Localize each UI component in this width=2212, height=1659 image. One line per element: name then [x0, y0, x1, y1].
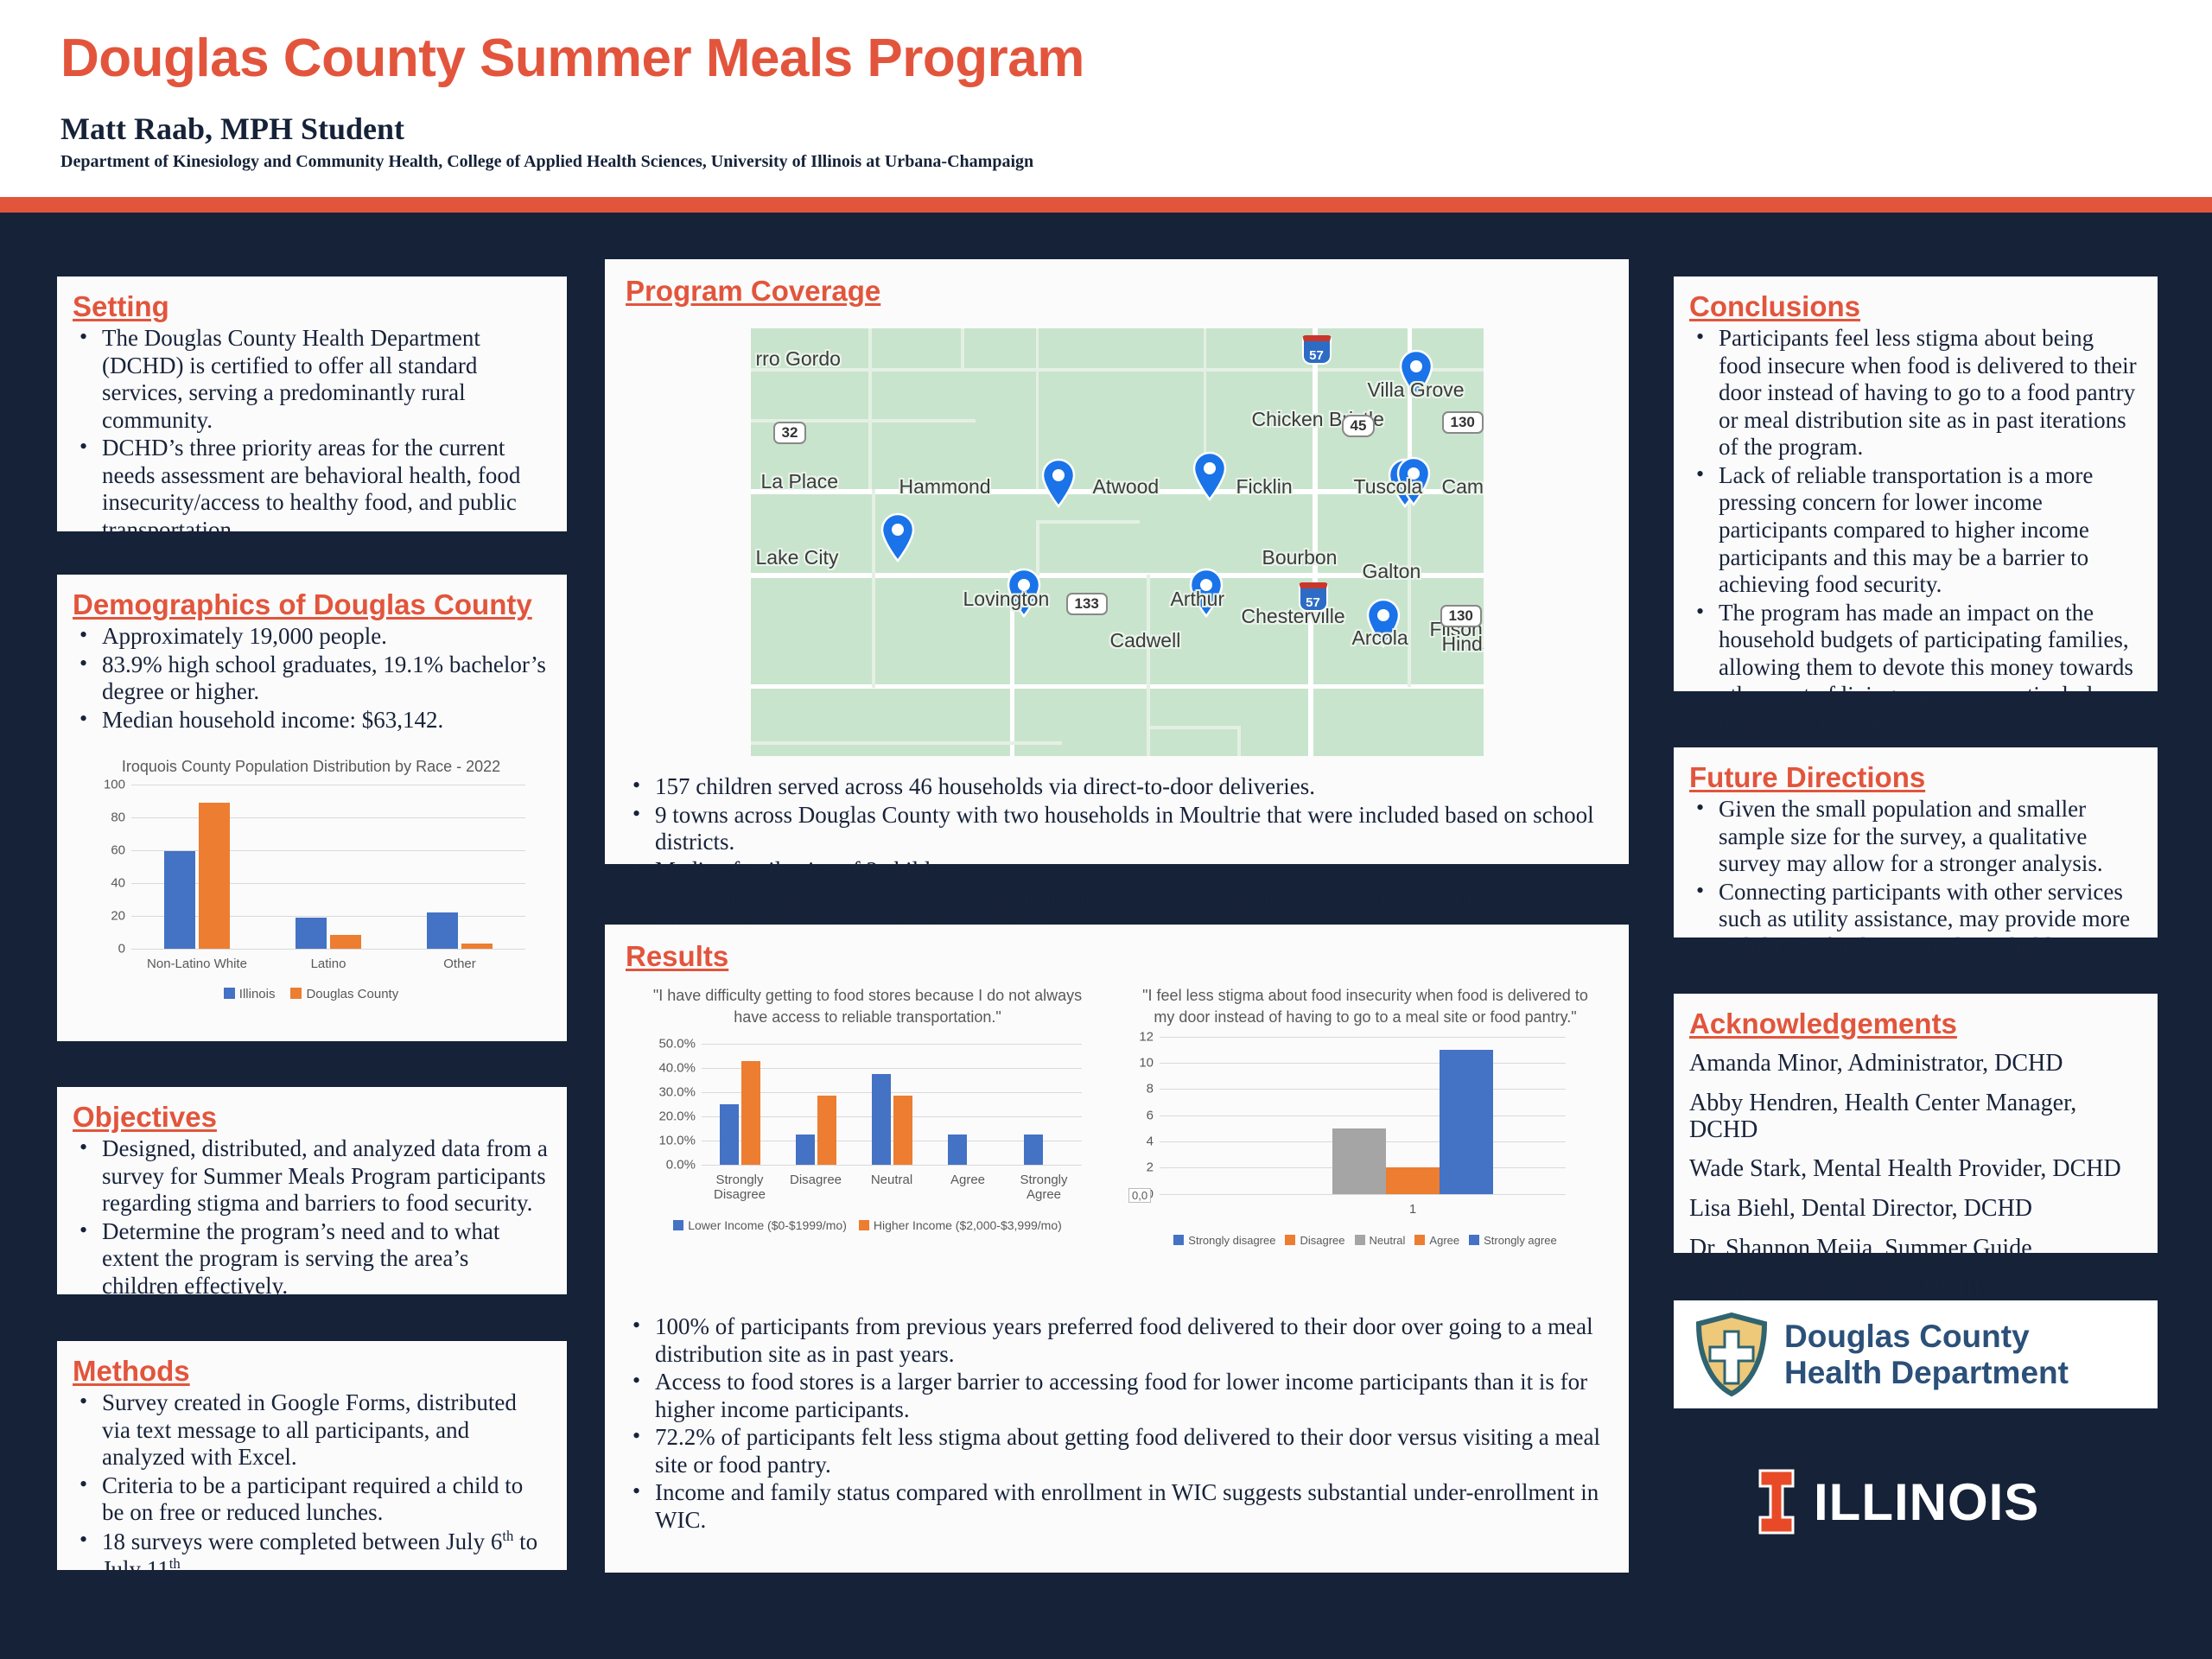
y-axis-tick-label: 60 — [111, 842, 125, 857]
y-axis-tick-label: 2 — [1147, 1160, 1154, 1175]
legend-swatch-strongly-disagree — [1173, 1235, 1184, 1245]
list-item: The Douglas County Health Department (DC… — [73, 325, 548, 434]
gridline — [1160, 1194, 1566, 1195]
chart-bar — [872, 1074, 891, 1165]
chart-bar — [296, 918, 327, 948]
chart-legend: Strongly disagree Disagree Neutral Agree… — [1123, 1234, 1607, 1247]
legend-item: Disagree — [1285, 1234, 1344, 1247]
gridline — [1160, 1037, 1566, 1038]
y-axis-tick-label: 6 — [1147, 1108, 1154, 1122]
chart-bar — [741, 1061, 760, 1165]
legend-label: Strongly disagree — [1188, 1234, 1275, 1247]
chart-title: "I have difficulty getting to food store… — [626, 985, 1109, 1028]
chart-bar — [330, 935, 361, 948]
chart-bar — [427, 912, 458, 949]
map-label-hammond: Hammond — [899, 475, 991, 499]
legend-item: Strongly disagree — [1173, 1234, 1275, 1247]
legend-swatch-neutral — [1355, 1235, 1365, 1245]
illinois-wordmark: ILLINOIS — [1814, 1472, 2039, 1532]
y-axis-tick-label: 0 — [118, 941, 125, 956]
route-shield-45: 45 — [1342, 415, 1376, 437]
list-item: Given the small population and smaller s… — [1689, 796, 2140, 878]
author-affiliation: Department of Kinesiology and Community … — [60, 152, 1033, 172]
acknowledgement-line: Wade Stark, Mental Health Provider, DCHD — [1689, 1156, 2140, 1183]
list-item: Survey created in Google Forms, distribu… — [73, 1389, 548, 1471]
acknowledgement-line: Caleigh Parsley, Intern, DCHD — [1689, 1275, 2140, 1302]
x-axis-tick-label: Latino — [265, 957, 391, 971]
list-item: Participants feel less stigma about bein… — [1689, 325, 2140, 461]
x-axis-tick-label: Neutral — [856, 1173, 927, 1187]
map-label-lake-city: Lake City — [756, 546, 839, 569]
map-label-arcola: Arcola — [1352, 626, 1408, 650]
legend-label: Neutral — [1370, 1234, 1406, 1247]
illinois-block-i-icon — [1758, 1469, 1795, 1535]
section-heading-results: Results — [626, 940, 728, 973]
x-axis-tick-label: Other — [397, 957, 523, 971]
author-name: Matt Raab, MPH Student — [60, 111, 404, 147]
map-label-hindsboro: Hindsb — [1442, 632, 1484, 656]
map-label-camargo: Camargo — [1442, 475, 1484, 499]
illinois-logo: ILLINOIS — [1758, 1469, 2039, 1535]
section-results: Results "I have difficulty getting to fo… — [605, 925, 1629, 1573]
section-future-directions: Future Directions Given the small popula… — [1674, 747, 2158, 938]
conclusions-bullet-list: Participants feel less stigma about bein… — [1689, 325, 2140, 736]
legend-item: Douglas County — [290, 987, 398, 1001]
page-title: Douglas County Summer Meals Program — [60, 28, 1084, 89]
map-label-lovington: Lovington — [963, 588, 1050, 611]
dchd-logo-line1: Douglas County — [1784, 1319, 2069, 1354]
list-item: Median household income: $63,142. — [73, 707, 548, 734]
section-heading-objectives: Objectives — [73, 1101, 217, 1134]
legend-swatch-lower-income — [673, 1220, 683, 1230]
map-label-ficklin: Ficklin — [1236, 475, 1293, 499]
list-item: 157 children served across 46 households… — [626, 773, 1608, 801]
list-item: DCHD’s three priority areas for the curr… — [73, 435, 548, 543]
list-item: Lack of reliable transportation is a mor… — [1689, 462, 2140, 599]
chart-bar — [164, 851, 195, 949]
list-item: 9 towns across Douglas County with two h… — [626, 802, 1608, 856]
section-heading-setting: Setting — [73, 290, 169, 323]
chart-bar — [461, 944, 493, 949]
y-axis-tick-label: 30.0% — [658, 1084, 696, 1099]
results-bullet-list: 100% of participants from previous years… — [626, 1313, 1608, 1535]
list-item: 83.9% high school graduates, 19.1% bache… — [73, 652, 548, 706]
chart-bar — [1440, 1050, 1493, 1194]
coverage-map[interactable]: rro Gordo Chicken Bristle La Place Hammo… — [751, 328, 1484, 756]
chart-bar — [1386, 1167, 1440, 1193]
acknowledgement-line: Dr. Shannon Mejia, Summer Guide — [1689, 1236, 2140, 1262]
map-label-villa-grove: Villa Grove — [1368, 378, 1465, 402]
y-axis-tick-label: 100 — [104, 777, 125, 791]
gridline — [131, 785, 525, 785]
x-axis-tick-label: Agree — [932, 1173, 1003, 1187]
section-heading-acknowledgements: Acknowledgements — [1689, 1007, 1957, 1040]
list-item: Determine the program’s need and to what… — [73, 1218, 548, 1300]
methods-date-post: . — [181, 1556, 187, 1582]
section-heading-coverage: Program Coverage — [626, 275, 880, 308]
y-axis-tick-label: 12 — [1139, 1029, 1154, 1044]
chart-demographics-race: Iroquois County Population Distribution … — [78, 756, 544, 1024]
list-item: Access to food stores is a larger barrie… — [626, 1369, 1608, 1423]
legend-item: Higher Income ($2,000-$3,999/mo) — [859, 1218, 1062, 1232]
legend-swatch-illinois — [224, 988, 235, 999]
section-acknowledgements: Acknowledgements Amanda Minor, Administr… — [1674, 994, 2158, 1253]
route-shield-133: 133 — [1066, 593, 1108, 615]
y-axis-tick-label: 20 — [111, 908, 125, 923]
section-demographics: Demographics of Douglas County Approxima… — [57, 575, 567, 1041]
gridline — [1160, 1063, 1566, 1064]
legend-label: Higher Income ($2,000-$3,999/mo) — [874, 1218, 1062, 1232]
list-item: Approximately 19,000 people. — [73, 623, 548, 651]
objectives-bullet-list: Designed, distributed, and analyzed data… — [73, 1135, 548, 1300]
legend-swatch-higher-income — [859, 1220, 869, 1230]
acknowledgement-line: Amanda Minor, Administrator, DCHD — [1689, 1051, 2140, 1077]
section-conclusions: Conclusions Participants feel less stigm… — [1674, 276, 2158, 691]
legend-item: Lower Income ($0-$1999/mo) — [673, 1218, 847, 1232]
section-heading-future: Future Directions — [1689, 761, 1925, 794]
map-pin-lake-city[interactable] — [879, 512, 917, 563]
map-label-chesterville: Chesterville — [1242, 605, 1345, 628]
chart-title: "I feel less stigma about food insecurit… — [1123, 985, 1607, 1028]
y-axis-tick-label: 8 — [1147, 1082, 1154, 1096]
route-shield-130-south: 130 — [1440, 605, 1482, 627]
map-label-tuscola: Tuscola — [1354, 475, 1423, 499]
future-bullet-list: Given the small population and smaller s… — [1689, 796, 2140, 960]
legend-item: Illinois — [224, 987, 276, 1001]
y-axis-tick-label: 40 — [111, 875, 125, 890]
legend-label: Agree — [1429, 1234, 1459, 1247]
results-charts-row: "I have difficulty getting to food store… — [626, 985, 1608, 1287]
chart-bar — [720, 1104, 739, 1165]
chart-stigma-delivery: "I feel less stigma about food insecurit… — [1123, 985, 1607, 1287]
legend-item: Neutral — [1355, 1234, 1406, 1247]
demographics-bullet-list: Approximately 19,000 people. 83.9% high … — [73, 623, 548, 734]
legend-label: Disagree — [1300, 1234, 1344, 1247]
list-item: 100% of participants from previous years… — [626, 1313, 1608, 1368]
chart-bar — [948, 1135, 967, 1165]
chart-title: Iroquois County Population Distribution … — [99, 756, 523, 777]
y-axis-tick-label: 20.0% — [658, 1109, 696, 1123]
chart-legend: Illinois Douglas County — [78, 987, 544, 1001]
map-label-cadwell: Cadwell — [1110, 629, 1181, 652]
gridline — [702, 1165, 1082, 1166]
setting-bullet-list: The Douglas County Health Department (DC… — [73, 325, 548, 544]
legend-swatch-strongly-agree — [1469, 1235, 1479, 1245]
acknowledgement-line: Abby Hendren, Health Center Manager, DCH… — [1689, 1090, 2140, 1144]
interstate-shield-57-south: 57 — [1299, 582, 1328, 612]
y-axis-tick-label: 80 — [111, 810, 125, 824]
legend-label: Lower Income ($0-$1999/mo) — [688, 1218, 847, 1232]
x-axis-tick-label: Strongly Agree — [1008, 1173, 1079, 1202]
chart-transportation-barrier: "I have difficulty getting to food store… — [626, 985, 1109, 1287]
y-axis-tick-label: 10.0% — [658, 1133, 696, 1147]
chart-legend: Lower Income ($0-$1999/mo) Higher Income… — [626, 1218, 1109, 1232]
dchd-logo-text: Douglas County Health Department — [1784, 1319, 2069, 1390]
section-methods: Methods Survey created in Google Forms, … — [57, 1341, 567, 1570]
section-objectives: Objectives Designed, distributed, and an… — [57, 1087, 567, 1294]
map-pin-hammond[interactable] — [1039, 458, 1077, 508]
legend-label: Strongly agree — [1484, 1234, 1557, 1247]
chart-plot-area: 0246810120,01 — [1160, 1037, 1566, 1194]
y-axis-tick-label: 40.0% — [658, 1060, 696, 1075]
legend-item: Strongly agree — [1469, 1234, 1557, 1247]
y-axis-tick-label: 50.0% — [658, 1036, 696, 1051]
map-label-cerro-gordo: rro Gordo — [756, 347, 841, 371]
map-label-galton: Galton — [1363, 560, 1421, 583]
list-item: 18 surveys were completed between July 6… — [73, 1528, 548, 1584]
poster-canvas: Douglas County Summer Meals Program Matt… — [0, 0, 2212, 1659]
chart-bar — [893, 1096, 912, 1165]
route-shield-32: 32 — [773, 422, 807, 444]
legend-label: Douglas County — [306, 987, 398, 1001]
legend-label: Illinois — [239, 987, 276, 1001]
section-setting: Setting The Douglas County Health Depart… — [57, 276, 567, 531]
gridline — [1160, 1116, 1566, 1116]
map-label-arthur: Arthur — [1171, 588, 1225, 611]
methods-date-pre: 18 surveys were completed between July 6 — [102, 1529, 502, 1554]
list-item: 72.2% of participants felt less stigma a… — [626, 1424, 1608, 1478]
legend-swatch-disagree — [1285, 1235, 1295, 1245]
list-item: Designed, distributed, and analyzed data… — [73, 1135, 548, 1217]
map-label-la-place: La Place — [761, 470, 839, 493]
list-item: Criteria to be a participant required a … — [73, 1472, 548, 1527]
header-accent-rule — [0, 197, 2212, 213]
gridline — [131, 949, 525, 950]
y-axis-tick-label: 10 — [1139, 1055, 1154, 1070]
map-pin-atwood[interactable] — [1191, 451, 1229, 501]
poster-header: Douglas County Summer Meals Program Matt… — [0, 0, 2212, 197]
dchd-logo-line2: Health Department — [1784, 1355, 2069, 1390]
gridline — [131, 817, 525, 818]
chart-bar — [199, 803, 230, 949]
section-heading-demographics: Demographics of Douglas County — [73, 588, 532, 621]
chart-bar — [796, 1135, 815, 1165]
ordinal-suffix: th — [169, 1555, 181, 1572]
x-axis-tick-label: Disagree — [780, 1173, 851, 1187]
chart-bar — [1024, 1135, 1043, 1165]
list-item: The program has made an impact on the ho… — [1689, 600, 2140, 736]
route-shield-130-north: 130 — [1442, 411, 1484, 434]
x-axis-tick-label: Strongly Disagree — [704, 1173, 775, 1202]
legend-item: Agree — [1414, 1234, 1459, 1247]
ordinal-suffix: th — [502, 1528, 513, 1544]
section-heading-conclusions: Conclusions — [1689, 290, 1860, 323]
y-axis-tick-label: 4 — [1147, 1134, 1154, 1148]
section-heading-methods: Methods — [73, 1355, 190, 1388]
chart-plot-area: 0.0%10.0%20.0%30.0%40.0%50.0%Strongly Di… — [702, 1044, 1082, 1165]
y-axis-tick-label: 0.0% — [666, 1157, 696, 1172]
map-label-bourbon: Bourbon — [1262, 546, 1338, 569]
chart-plot-area: 020406080100Non-Latino WhiteLatinoOther — [131, 785, 525, 949]
section-program-coverage: Program Coverage — [605, 259, 1629, 864]
chart-bar — [1332, 1128, 1386, 1194]
list-item: Connecting participants with other servi… — [1689, 879, 2140, 961]
gridline — [1160, 1089, 1566, 1090]
acknowledgement-line: Lisa Biehl, Dental Director, DCHD — [1689, 1196, 2140, 1223]
map-label-atwood: Atwood — [1093, 475, 1160, 499]
gridline — [702, 1044, 1082, 1045]
list-item: Median family size of 3 children. — [626, 857, 1608, 885]
chart-bar — [817, 1096, 836, 1165]
interstate-shield-57-north: 57 — [1302, 335, 1332, 365]
x-axis-tick-label: 1 — [1409, 1202, 1416, 1217]
list-item: Income and family status compared with e… — [626, 1479, 1608, 1534]
x-axis-tick-label: Non-Latino White — [134, 957, 260, 971]
coverage-bullet-list: 157 children served across 46 households… — [626, 773, 1608, 939]
legend-swatch-agree — [1414, 1235, 1425, 1245]
methods-bullet-list: Survey created in Google Forms, distribu… — [73, 1389, 548, 1584]
dchd-logo: Douglas County Health Department — [1674, 1300, 2158, 1408]
shield-cross-icon — [1694, 1313, 1769, 1397]
zero-data-label: 0,0 — [1128, 1188, 1151, 1203]
legend-swatch-douglas — [290, 988, 302, 999]
